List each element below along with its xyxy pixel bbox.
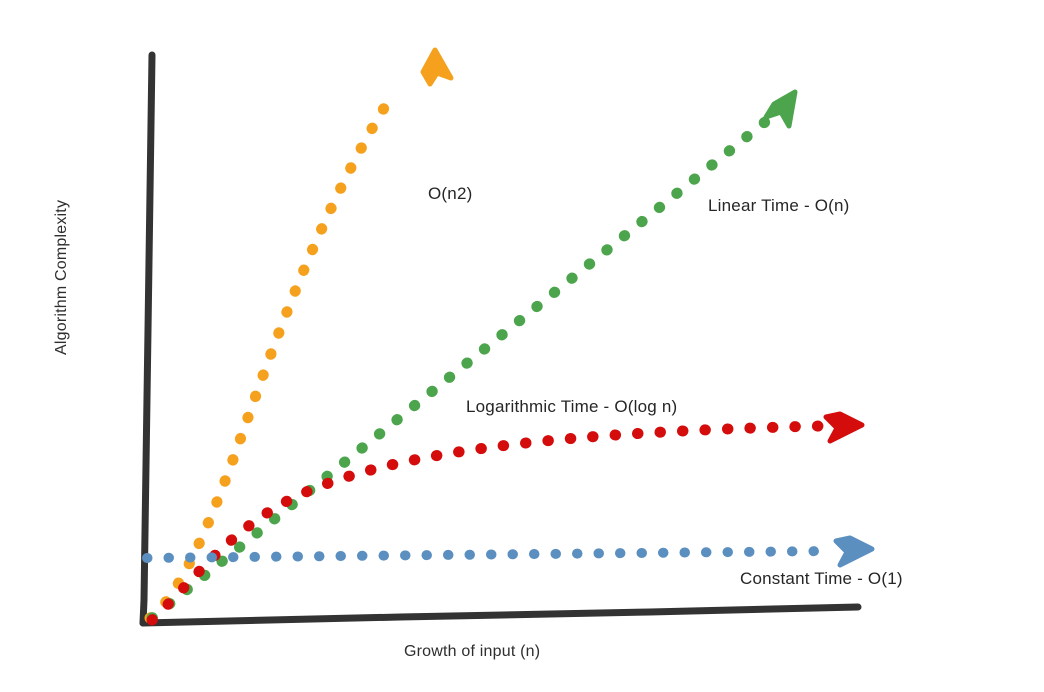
big-o-complexity-chart: Algorithm Complexity Growth of input (n)… [0, 0, 1044, 692]
arrowheads-group [423, 50, 872, 565]
series-label-quadratic: O(n2) [428, 184, 472, 204]
series-label-linear: Linear Time - O(n) [708, 196, 850, 216]
series-line-quadratic [150, 95, 392, 618]
x-axis-line [143, 607, 858, 623]
x-axis-title: Growth of input (n) [404, 643, 540, 661]
arrowhead-logarithmic-icon [826, 414, 862, 441]
arrowhead-quadratic-icon [423, 50, 451, 84]
y-axis-title: Algorithm Complexity [53, 200, 71, 355]
arrowhead-constant-icon [836, 538, 872, 565]
arrowhead-linear-icon [766, 92, 795, 126]
series-label-logarithmic: Logarithmic Time - O(log n) [466, 397, 677, 417]
series-line-logarithmic [152, 426, 820, 620]
series-line-constant [147, 551, 832, 558]
series-paths [147, 95, 832, 620]
series-label-constant: Constant Time - O(1) [740, 569, 903, 589]
y-axis-line [143, 55, 152, 623]
